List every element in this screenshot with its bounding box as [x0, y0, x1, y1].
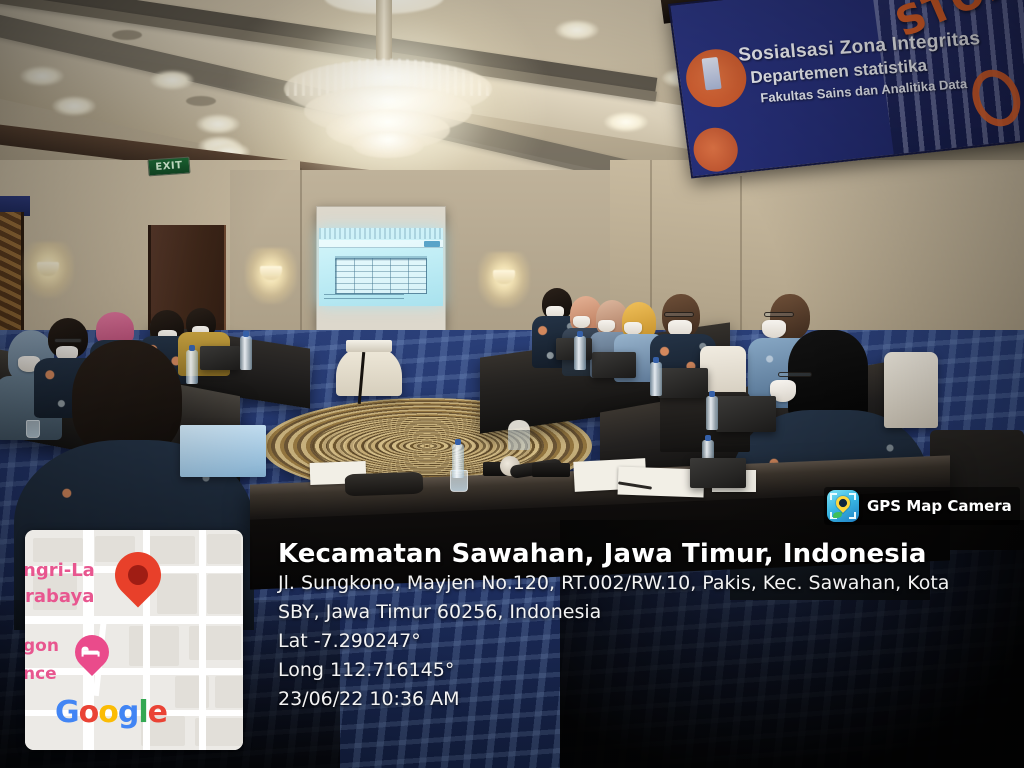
map-label-nce: nce	[25, 664, 57, 684]
map-block	[207, 574, 241, 614]
map-block	[215, 676, 243, 708]
banner-logo-secondary-icon	[691, 125, 741, 173]
map-block	[207, 534, 241, 564]
laptop-screen	[180, 425, 266, 477]
downlight-icon	[150, 70, 194, 90]
document-folder	[345, 472, 424, 497]
downlight-icon	[52, 96, 96, 116]
laptop	[592, 352, 636, 378]
bracket-top-right-icon	[849, 493, 856, 500]
water-bottle	[650, 362, 662, 396]
google-letter-e: e	[148, 695, 167, 730]
projector	[346, 340, 392, 352]
slide-table-grid	[335, 258, 427, 294]
exit-sign-label: EXIT	[155, 160, 183, 173]
chandelier-tier	[352, 132, 424, 158]
google-letter-l: l	[138, 695, 147, 730]
gps-map-camera-label: GPS Map Camera	[867, 497, 1012, 515]
gps-latitude: Lat -7.290247°	[278, 627, 1018, 656]
face-mask	[762, 320, 786, 338]
water-bottle	[706, 396, 718, 430]
slide-toolbar-strip	[319, 228, 443, 239]
map-road	[25, 616, 243, 624]
map-block	[189, 626, 241, 660]
gps-map-camera-app-icon	[827, 490, 859, 522]
map-label-gon: gon	[25, 636, 59, 656]
laptop	[200, 346, 240, 370]
google-letter-o2: o	[98, 695, 118, 730]
map-label-surabaya: rabaya	[25, 586, 94, 607]
laptop	[690, 458, 746, 488]
drinking-glass	[26, 420, 40, 438]
ceiling-diffuser-icon	[112, 30, 142, 40]
carved-wood-panel	[0, 212, 24, 340]
gps-address-line-2: SBY, Jawa Timur 60256, Indonesia	[278, 598, 1018, 627]
laptop	[658, 368, 708, 398]
exit-sign: EXIT	[147, 157, 190, 177]
table-lamp	[508, 420, 530, 450]
laptop	[716, 396, 776, 432]
gps-map-camera-watermark: GPS Map Camera	[824, 487, 1020, 525]
eyeglasses	[54, 338, 82, 343]
downlight-icon	[20, 66, 64, 86]
map-road	[25, 668, 243, 675]
downlight-icon	[604, 112, 648, 132]
map-road	[199, 530, 206, 750]
eyeglasses	[664, 312, 694, 317]
pen-tray	[532, 463, 570, 477]
map-block	[33, 538, 83, 562]
bed-icon	[82, 645, 100, 657]
map-thumbnail[interactable]: ngri-La rabaya gon nce Google	[25, 530, 243, 750]
bracket-bottom-right-icon	[849, 512, 856, 519]
map-pin-dot-icon	[838, 498, 849, 509]
water-bottle	[240, 336, 252, 370]
ceiling-diffuser-icon	[186, 96, 216, 106]
gps-address-line-1: Jl. Sungkono, Mayjen No.120, RT.002/RW.1…	[278, 569, 1018, 598]
map-block	[157, 574, 197, 614]
map-block	[129, 626, 179, 666]
map-label-shangri-la: ngri-La	[25, 560, 95, 581]
gps-timestamp: 23/06/22 10:36 AM	[278, 685, 1018, 714]
eyeglasses	[778, 372, 812, 377]
projector-table	[336, 346, 402, 396]
slide-button-shape	[424, 241, 440, 247]
gps-place-title: Kecamatan Sawahan, Jawa Timur, Indonesia	[278, 540, 1018, 569]
photograph: EXIT STOP Sosialsasi Zona Integritas Dep…	[0, 0, 1024, 768]
downlight-icon	[555, 20, 599, 40]
chair	[884, 352, 938, 428]
leaf-icon	[833, 512, 842, 518]
google-letter-o1: o	[79, 695, 99, 730]
gps-longitude: Long 112.716145°	[278, 656, 1018, 685]
google-letter-g2: g	[118, 695, 138, 730]
water-bottle	[574, 336, 586, 370]
face-mask	[598, 320, 615, 332]
banner-logo-inner-shape	[702, 57, 722, 90]
slide-text-lines	[324, 294, 404, 302]
google-letter-g1: G	[55, 695, 79, 730]
google-logo: Google	[55, 695, 167, 730]
face-mask	[573, 316, 590, 328]
chandelier	[268, 0, 508, 174]
water-bottle	[186, 350, 198, 384]
water-bottle	[452, 444, 464, 478]
projection-screen-content	[319, 228, 443, 306]
gps-stamp-text-block: Kecamatan Sawahan, Jawa Timur, Indonesia…	[278, 540, 1018, 713]
eyeglasses	[764, 312, 794, 317]
